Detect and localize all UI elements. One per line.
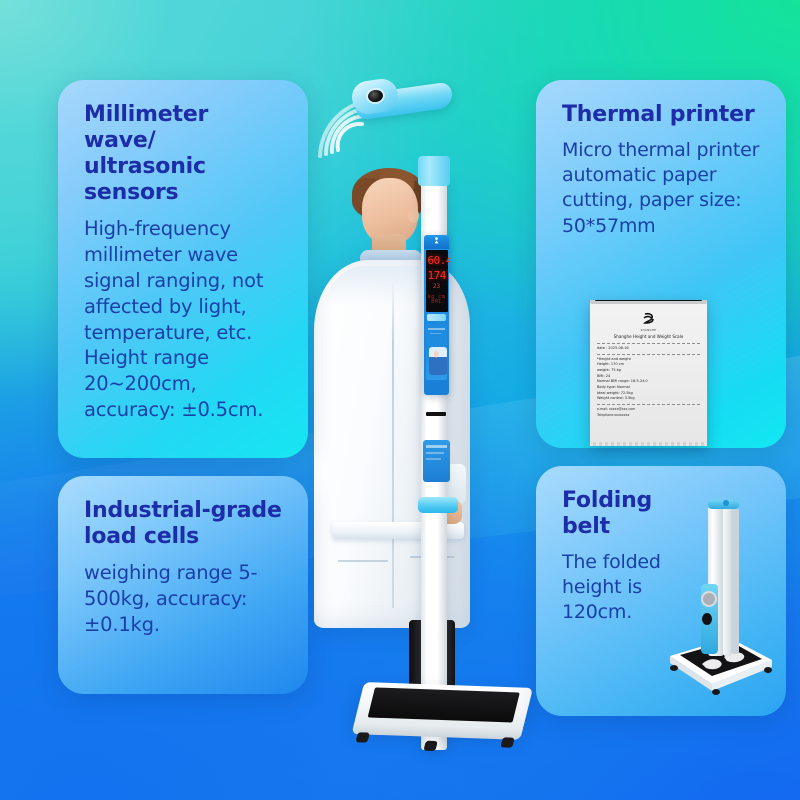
panel-graphic-line-2 <box>430 333 441 335</box>
feature-card-sensors: Millimeter wave/ ultrasonic sensors High… <box>58 80 308 458</box>
receipt-brand: SHANGHE <box>597 330 700 333</box>
receipt-logo-icon <box>597 310 700 329</box>
receipt-tear-edge <box>590 442 707 446</box>
card-sensors-body: High-frequency millimeter wave signal ra… <box>84 216 284 423</box>
printer-module-line-3 <box>426 458 441 460</box>
display-bmi-value: 23 <box>428 284 446 290</box>
panel-graphic <box>426 324 447 380</box>
scale-base-platform <box>349 682 533 750</box>
card-sensors-title-line1: Millimeter wave/ <box>84 102 208 153</box>
height-weight-scale-illustration: 60.4 174.5 23 kg cm BMI <box>300 60 520 760</box>
printer-module[interactable] <box>423 440 450 482</box>
base-foot-back-right <box>500 737 514 747</box>
printed-receipt: SHANGHE Shanghe Height and Weight Scale … <box>590 300 707 446</box>
panel-label-strip <box>427 314 446 321</box>
printer-module-line-2 <box>426 452 444 454</box>
person-ear <box>408 208 419 223</box>
feature-card-load-cells: Industrial-grade load cells weighing ran… <box>58 476 308 694</box>
printer-paper-slot <box>426 412 446 416</box>
receipt-title: Shanghe Height and Weight Scale <box>597 335 700 340</box>
receipt-divider-2 <box>597 354 700 355</box>
receipt-date: date : 2025-08-16 <box>597 346 700 352</box>
coat-seam <box>392 278 394 608</box>
panel-graphic-line-1 <box>428 328 445 330</box>
card-load-cells-title-line1: Industrial-grade <box>84 498 282 523</box>
receipt-divider-1 <box>597 343 700 344</box>
scale-column-cap <box>418 156 450 186</box>
display-height-value: 174.5 <box>428 270 446 281</box>
card-load-cells-body: weighing range 5-500kg, accuracy: ±0.1kg… <box>84 560 284 638</box>
person-brand-icon <box>433 237 440 245</box>
folded-scale-product-image <box>668 488 778 700</box>
display-weight-value: 60.4 <box>428 255 446 266</box>
card-load-cells-title: Industrial-grade load cells <box>84 498 284 550</box>
coat-pocket-left <box>338 560 388 562</box>
folding-handle[interactable] <box>418 497 458 513</box>
card-load-cells-title-line2: load cells <box>84 524 199 549</box>
card-folding-belt-title-line1: Folding <box>562 488 652 513</box>
card-printer-title: Thermal printer <box>562 102 762 128</box>
led-display: 60.4 174.5 23 kg cm BMI <box>426 250 448 312</box>
card-sensors-title: Millimeter wave/ ultrasonic sensors <box>84 102 284 206</box>
card-sensors-title-line2: ultrasonic sensors <box>84 154 206 205</box>
poster-canvas: 60.4 174.5 23 kg cm BMI <box>0 0 800 800</box>
panel-graphic-figure <box>429 347 447 375</box>
base-black-mat <box>368 687 520 722</box>
folded-panel <box>701 584 718 654</box>
person-illustration <box>308 164 476 664</box>
base-foot-front-left <box>355 732 369 742</box>
printer-module-line-1 <box>426 445 447 448</box>
receipt-divider-3 <box>597 404 700 405</box>
card-printer-body: Micro thermal printer automatic paper cu… <box>562 138 762 239</box>
receipt-printer-slot <box>590 300 707 304</box>
panel-brand-strip <box>424 237 449 249</box>
receipt-telephone: Telephone:xxxxxxxx <box>597 413 700 418</box>
display-unit-labels: kg cm BMI <box>428 295 446 305</box>
control-panel[interactable]: 60.4 174.5 23 kg cm BMI <box>424 235 449 395</box>
card-folding-belt-title-line2: belt <box>562 514 610 539</box>
receipt-line: Weight control: 3.5kg <box>597 396 700 402</box>
